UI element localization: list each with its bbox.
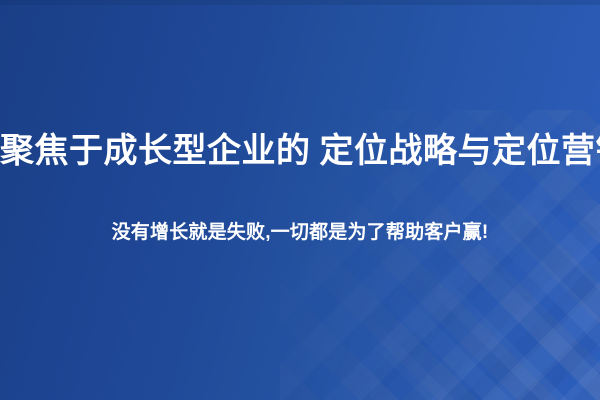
banner-content: 聚焦于成长型企业的定位战略与定位营销 没有增长就是失败,一切都是为了帮助客户赢! bbox=[0, 0, 600, 400]
headline-segment-focus: 聚焦于成长型企业的 bbox=[0, 132, 311, 170]
banner-subtitle: 没有增长就是失败,一切都是为了帮助客户赢! bbox=[0, 219, 600, 247]
banner-headline: 聚焦于成长型企业的定位战略与定位营销 bbox=[0, 128, 600, 174]
headline-segment-strategy: 定位战略与定位营销 bbox=[320, 132, 600, 170]
promotional-banner: 聚焦于成长型企业的定位战略与定位营销 没有增长就是失败,一切都是为了帮助客户赢! bbox=[0, 0, 600, 400]
